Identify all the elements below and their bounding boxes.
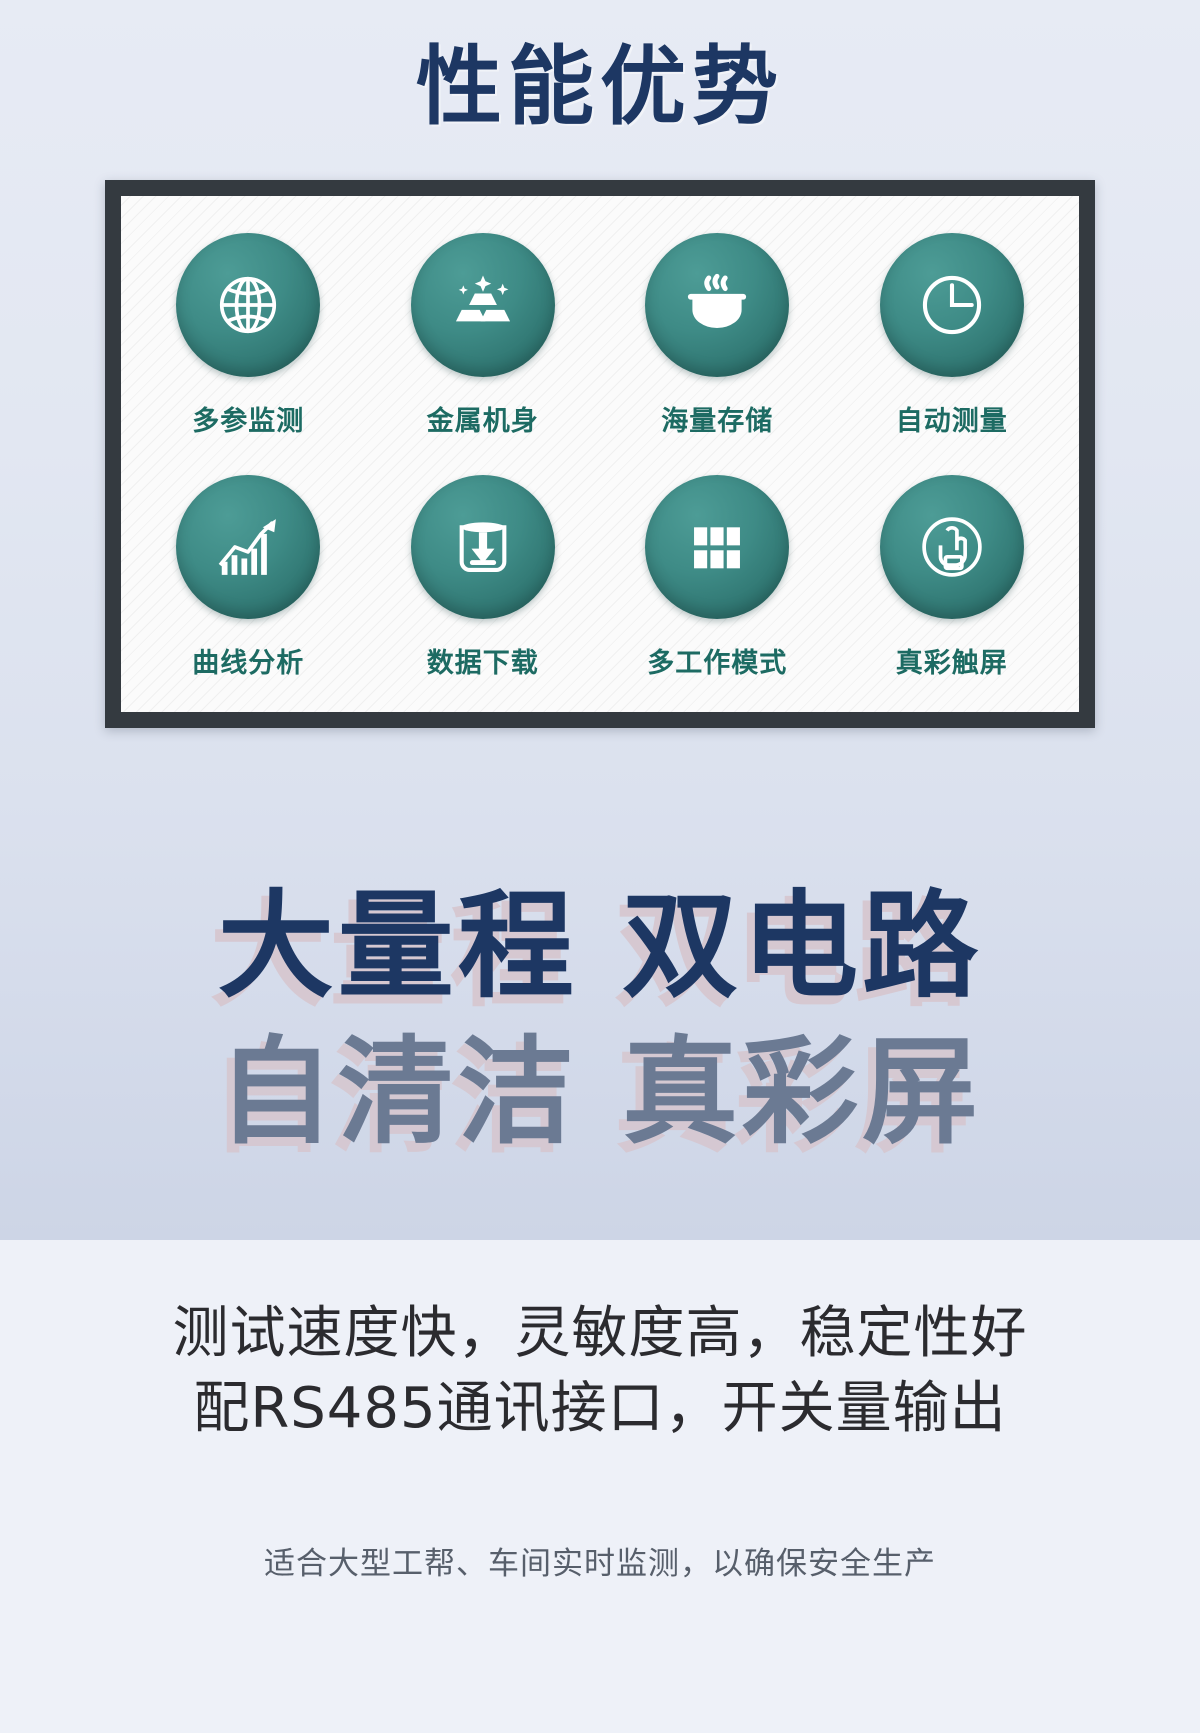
grid-modes-icon [645, 475, 789, 619]
feature-label: 数据下载 [427, 641, 539, 680]
metal-ingot-icon [411, 233, 555, 377]
feature-row-2: 曲线分析 数据下载 [131, 475, 1069, 680]
features-section: 性能优势 多参监测 [0, 0, 1200, 800]
storage-pot-icon [645, 233, 789, 377]
feature-label: 海量存储 [661, 399, 773, 438]
feature-item-multi-param-monitoring[interactable]: 多参监测 [148, 233, 348, 438]
feature-label: 多工作模式 [647, 641, 787, 680]
copy-subtext: 适合大型工帮、车间实时监测，以确保安全生产 [264, 1538, 936, 1583]
feature-label: 多参监测 [192, 399, 304, 438]
feature-item-data-download[interactable]: 数据下载 [383, 475, 583, 680]
globe-icon [176, 233, 320, 377]
page-title: 性能优势 [0, 42, 1200, 132]
copy-line-2: 配RS485通讯接口，开关量输出 [193, 1371, 1006, 1446]
download-arrow-icon [411, 475, 555, 619]
copy-section: 测试速度快，灵敏度高，稳定性好 配RS485通讯接口，开关量输出 适合大型工帮、… [0, 1240, 1200, 1733]
feature-label: 金属机身 [427, 399, 539, 438]
clock-icon [880, 233, 1024, 377]
feature-label: 真彩触屏 [896, 641, 1008, 680]
feature-panel-frame: 多参监测 [105, 180, 1095, 728]
feature-item-multi-work-mode[interactable]: 多工作模式 [617, 475, 817, 680]
bar-chart-trend-icon [176, 475, 320, 619]
feature-item-curve-analysis[interactable]: 曲线分析 [148, 475, 348, 680]
feature-label: 曲线分析 [192, 641, 304, 680]
slogan-line-1: 大量程 双电路 [218, 882, 982, 1012]
copy-line-1: 测试速度快，灵敏度高，稳定性好 [173, 1296, 1028, 1371]
slogan-line-2: 自清洁 真彩屏 [218, 1028, 982, 1158]
feature-item-mass-storage[interactable]: 海量存储 [617, 233, 817, 438]
touch-finger-icon [880, 475, 1024, 619]
feature-row-1: 多参监测 [131, 233, 1069, 438]
feature-item-auto-measure[interactable]: 自动测量 [852, 233, 1052, 438]
feature-panel-inner: 多参监测 [121, 196, 1079, 712]
feature-item-metal-body[interactable]: 金属机身 [383, 233, 583, 438]
feature-label: 自动测量 [896, 399, 1008, 438]
slogan-section: 大量程 双电路 自清洁 真彩屏 [0, 800, 1200, 1240]
feature-item-true-color-touchscreen[interactable]: 真彩触屏 [852, 475, 1052, 680]
